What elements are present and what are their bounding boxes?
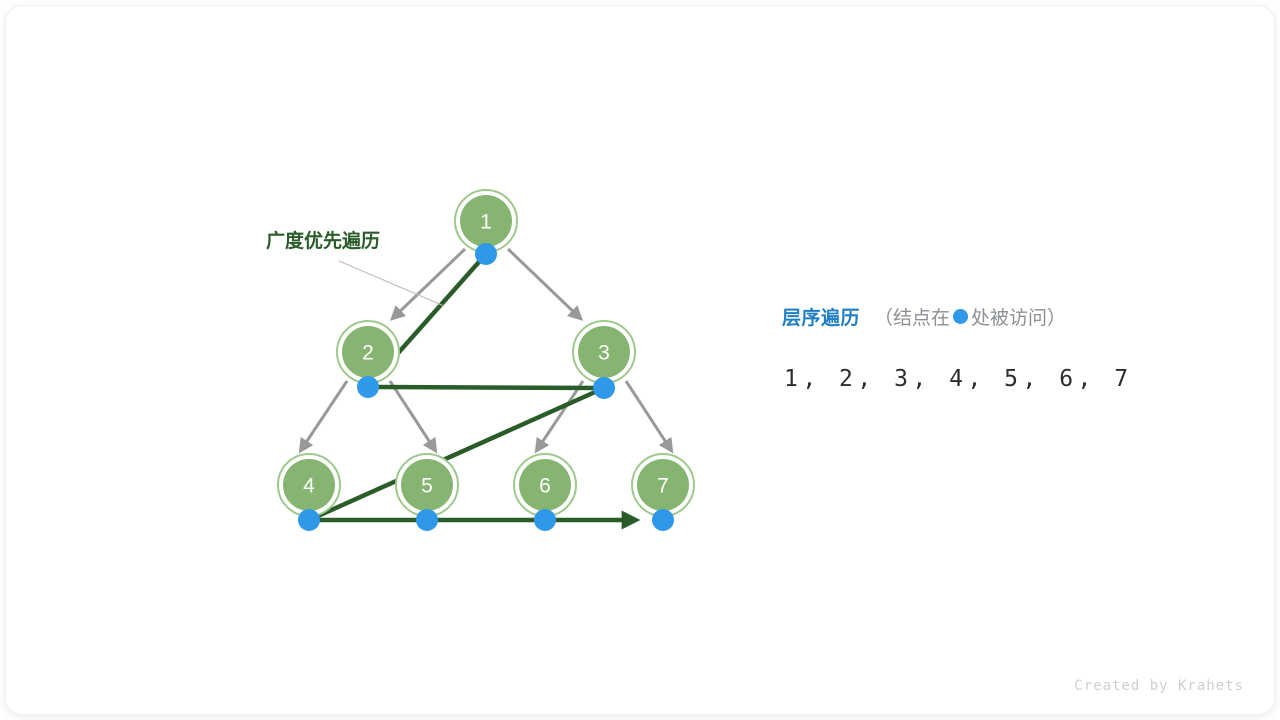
- blue-visit-dot-icon: [953, 309, 968, 324]
- visit-dot-node-4-icon[interactable]: [298, 509, 320, 531]
- legend-panel: 层序遍历 （结点在 处被访问）: [782, 300, 1212, 332]
- slide-card: 广度优先遍历 1 2 3: [6, 6, 1274, 714]
- node-7-label: 7: [657, 475, 669, 498]
- callout: 广度优先遍历: [266, 229, 444, 306]
- legend-title: 层序遍历: [782, 303, 860, 330]
- traversal-sequence: 1, 2, 3, 4, 5, 6, 7: [784, 366, 1133, 392]
- legend-heading-row: 层序遍历 （结点在 处被访问）: [782, 300, 1212, 332]
- tree-edge-1-3: [508, 249, 580, 318]
- tree-node-2[interactable]: 2: [337, 321, 399, 383]
- tree-edge-1-2: [393, 249, 465, 318]
- tree-node-4[interactable]: 4: [278, 454, 340, 516]
- node-2-label: 2: [362, 342, 374, 365]
- binary-tree-diagram: 广度优先遍历 1 2 3: [6, 6, 1274, 714]
- tree-node-7[interactable]: 7: [632, 454, 694, 516]
- node-5-label: 5: [421, 475, 433, 498]
- tree-edge-2-5: [390, 381, 435, 450]
- tree-node-6[interactable]: 6: [514, 454, 576, 516]
- node-3-label: 3: [598, 342, 610, 365]
- callout-label: 广度优先遍历: [266, 229, 380, 252]
- tree-edge-3-7: [626, 381, 671, 450]
- legend-note-before: （结点在: [874, 303, 950, 330]
- legend-note-after: 处被访问）: [971, 303, 1066, 330]
- tree-edge-2-4: [301, 381, 347, 450]
- node-6-label: 6: [539, 475, 551, 498]
- visit-dot-node-6-icon[interactable]: [534, 509, 556, 531]
- node-1-label: 1: [480, 211, 492, 234]
- visit-dot-node-7-icon[interactable]: [652, 509, 674, 531]
- legend-note: （结点在 处被访问）: [874, 303, 1066, 330]
- tree-node-3[interactable]: 3: [573, 321, 635, 383]
- visit-dot-node-5-icon[interactable]: [416, 509, 438, 531]
- visit-dot-node-1-icon[interactable]: [475, 243, 497, 265]
- visit-dot-node-2-icon[interactable]: [357, 376, 379, 398]
- tree-node-1[interactable]: 1: [455, 190, 517, 252]
- tree-node-5[interactable]: 5: [396, 454, 458, 516]
- footer-credit: Created by Krahets: [1074, 678, 1244, 694]
- node-4-label: 4: [303, 475, 315, 498]
- visit-dot-node-3-icon[interactable]: [593, 377, 615, 399]
